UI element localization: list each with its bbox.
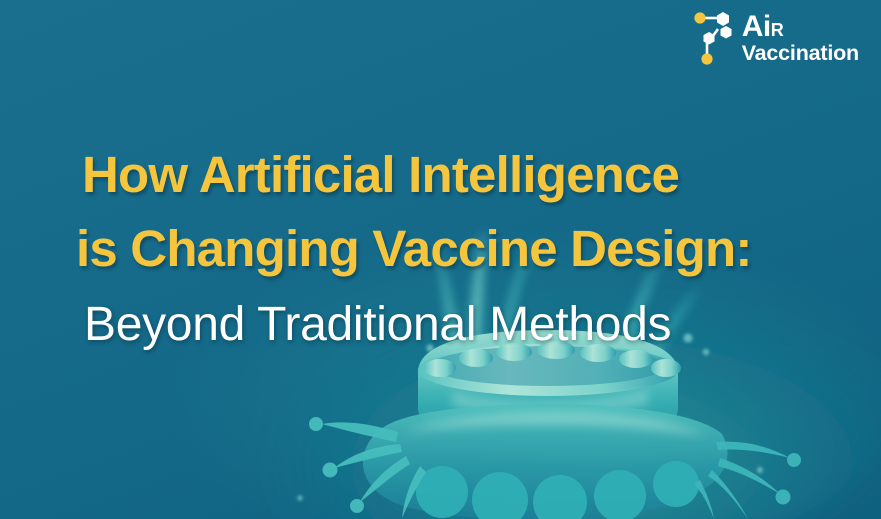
logo-brand-ai: Ai <box>742 12 771 42</box>
headline-block: How Artificial Intelligence is Changing … <box>82 138 822 360</box>
brand-logo[interactable]: AiR Vaccination <box>693 10 859 66</box>
logo-brand-primary: AiR <box>742 12 859 42</box>
molecule-network-icon <box>693 10 735 66</box>
headline-subtitle: Beyond Traditional Methods <box>84 290 822 360</box>
headline-line-2: is Changing Vaccine Design: <box>76 212 822 286</box>
logo-brand-secondary: Vaccination <box>742 43 859 65</box>
article-hero-banner: AiR Vaccination How Artificial Intellige… <box>0 0 881 519</box>
logo-brand-r: R <box>771 21 784 39</box>
logo-wordmark: AiR Vaccination <box>742 12 859 65</box>
headline-line-1: How Artificial Intelligence <box>82 138 822 212</box>
